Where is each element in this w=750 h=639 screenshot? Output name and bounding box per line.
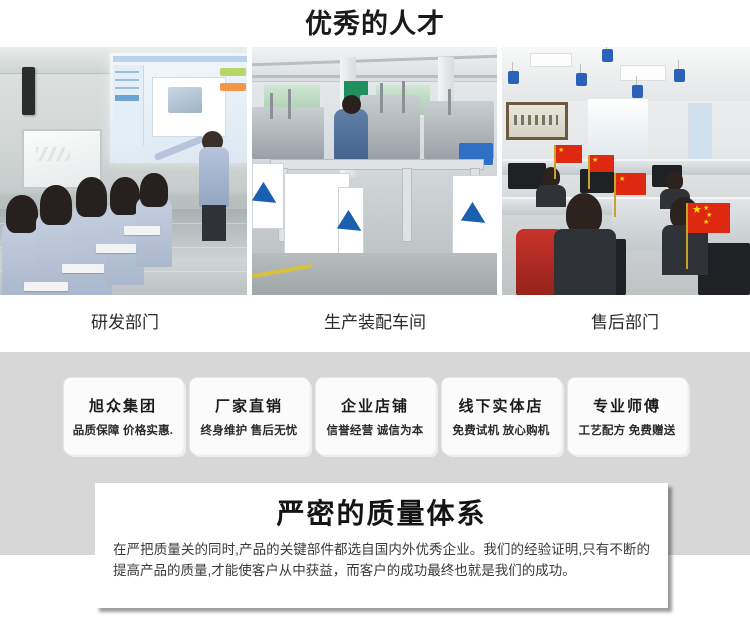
flag-star-icon: ★: [703, 219, 709, 226]
worker-head: [342, 95, 361, 114]
national-flag: ★: [556, 145, 582, 163]
brand-arrow-icon: [461, 202, 491, 232]
feature-card-title: 旭众集团: [89, 395, 157, 416]
flag-star-icon: ★: [692, 207, 702, 214]
screen-green-button: [220, 68, 246, 76]
hanging-lamp-icon: [576, 73, 587, 86]
machine-cabinet: [452, 175, 497, 259]
ceiling-light: [530, 53, 572, 67]
feature-card-title: 线下实体店: [458, 395, 543, 416]
flag-star-icon: ★: [619, 176, 625, 183]
feature-card-offline-store[interactable]: 线下实体店 免费试机 放心购机: [442, 378, 561, 454]
screen-sidebar-line: [115, 79, 139, 81]
photo-after-sales-office: ★ ★ ★ ★ ★ ★ ★: [502, 47, 750, 295]
attendee-hair: [140, 173, 168, 207]
photo-captions: 研发部门 生产装配车间 售后部门: [0, 295, 750, 351]
photo-gallery: ★ ★ ★ ★ ★ ★ ★: [0, 47, 750, 295]
frame-leg: [402, 168, 412, 242]
flag-star-icon: ★: [706, 212, 712, 219]
ceiling-light: [620, 65, 666, 81]
national-flag: ★: [616, 173, 646, 195]
quality-system-panel: 严密的质量体系 在严把质量关的同时,产品的关键部件都选自国内外优秀企业。我们的经…: [95, 483, 668, 608]
hanging-lamp-icon: [602, 49, 613, 62]
machine-rod: [402, 81, 405, 113]
machine-rod: [270, 93, 273, 119]
screen-sidebar: [113, 65, 144, 145]
feature-card-title: 厂家直销: [215, 395, 283, 416]
feature-card-title: 专业师傅: [593, 395, 661, 416]
wall-poster: [688, 103, 712, 163]
flag-star-icon: ★: [592, 157, 598, 164]
feature-card-subtitle: 信誉经营 诚信为本: [327, 422, 424, 438]
staff-head: [542, 167, 560, 187]
notebook: [24, 282, 68, 291]
machine-cabinet: [338, 187, 364, 255]
feature-card-list: 旭众集团 品质保障 价格实惠. 厂家直销 终身维护 售后无忧 企业店铺 信誉经营…: [0, 378, 750, 458]
page-title: 优秀的人才: [0, 0, 750, 47]
feature-card-subtitle: 工艺配方 免费赠送: [579, 422, 676, 438]
flag-star-icon: ★: [703, 205, 709, 212]
screen-diagram: [168, 87, 202, 113]
workshop-floor: [252, 253, 497, 295]
feature-card-subtitle: 品质保障 价格实惠.: [73, 422, 173, 438]
feature-card-subtitle: 免费试机 放心购机: [453, 422, 550, 438]
caption-assembly-workshop: 生产装配车间: [250, 295, 500, 351]
photo-rd-department: [0, 47, 247, 295]
wall-painting: [506, 102, 568, 140]
brand-arrow-icon: [337, 210, 367, 240]
brand-arrow-icon: [252, 182, 282, 212]
screen-orange-button: [220, 83, 246, 91]
feature-card-group[interactable]: 旭众集团 品质保障 价格实惠.: [64, 378, 183, 454]
screen-sidebar-line: [115, 71, 139, 73]
attendee-hair: [76, 177, 107, 217]
feature-card-subtitle: 终身维护 售后无忧: [201, 422, 298, 438]
quality-system-body: 在严把质量关的同时,产品的关键部件都选自国内外优秀企业。我们的经验证明,只有不断…: [111, 539, 652, 581]
notebook: [124, 226, 160, 235]
caption-rd-department: 研发部门: [0, 295, 250, 351]
trainer-legs: [202, 205, 226, 241]
photo-assembly-workshop: [252, 47, 497, 295]
machine-rod: [380, 83, 383, 113]
hanging-lamp-icon: [632, 85, 643, 98]
staff-body: [554, 229, 616, 295]
conveyor-frame: [270, 159, 484, 170]
worker-body: [334, 109, 368, 161]
monitor: [580, 169, 614, 193]
hanging-lamp-icon: [674, 69, 685, 82]
trainer-body: [199, 147, 229, 207]
machine-rod: [448, 89, 451, 115]
notebook: [96, 244, 136, 253]
quality-system-title: 严密的质量体系: [111, 495, 652, 533]
screen-sidebar-line: [115, 87, 139, 89]
notebook: [62, 264, 104, 273]
attendee-hair: [40, 185, 72, 225]
machine-rod: [288, 89, 291, 119]
roof-beam: [252, 75, 497, 78]
national-flag: ★: [590, 155, 614, 172]
staff-head: [666, 171, 683, 190]
wall-speaker-icon: [22, 67, 35, 115]
feature-card-factory-direct[interactable]: 厂家直销 终身维护 售后无忧: [190, 378, 309, 454]
hanging-lamp-icon: [508, 71, 519, 84]
caption-after-sales-department: 售后部门: [500, 295, 750, 351]
feature-card-title: 企业店铺: [341, 395, 409, 416]
feature-card-professional-master[interactable]: 专业师傅 工艺配方 免费赠送: [568, 378, 687, 454]
assembly-machine: [360, 95, 420, 159]
flag-star-icon: ★: [558, 147, 564, 154]
staff-body: [536, 185, 566, 207]
screen-title-bar: [113, 56, 247, 62]
feature-card-enterprise-store[interactable]: 企业店铺 信誉经营 诚信为本: [316, 378, 435, 454]
machine-cabinet: [252, 163, 284, 229]
office-window: [588, 99, 648, 161]
attendee-hair: [6, 195, 38, 233]
national-flag: ★ ★ ★ ★: [688, 203, 730, 233]
screen-sidebar-active: [115, 95, 139, 101]
